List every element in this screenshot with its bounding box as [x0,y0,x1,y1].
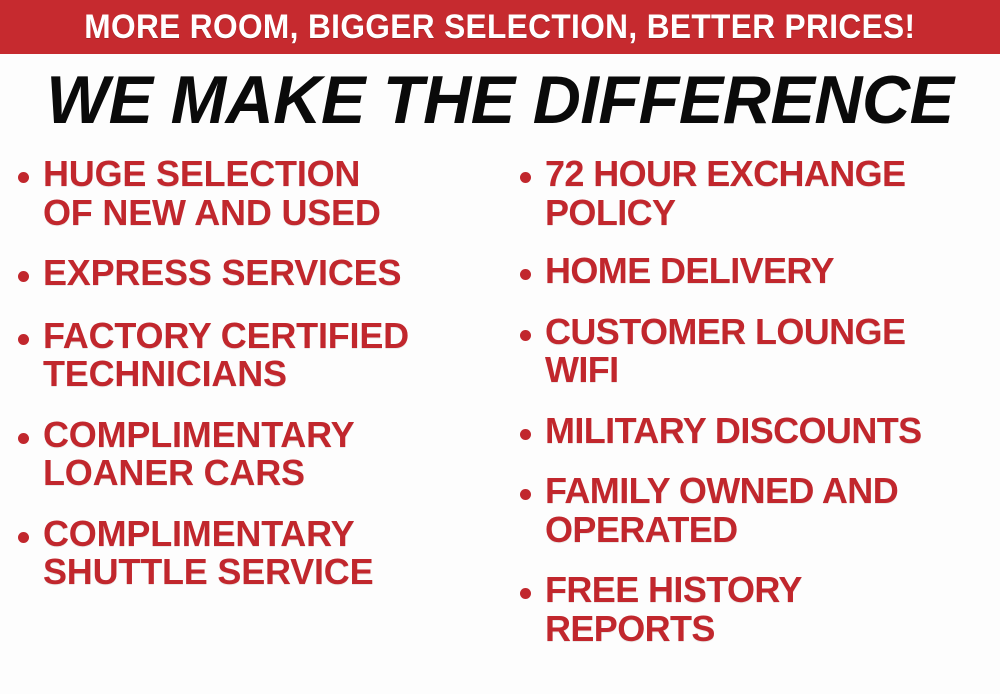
list-item: FAMILY OWNED AND OPERATED [520,472,1000,549]
bullet-dot-icon [520,330,531,341]
list-item-label: FAMILY OWNED AND OPERATED [545,472,898,549]
bullet-dot-icon [18,172,29,183]
list-item: FACTORY CERTIFIED TECHNICIANS [18,317,510,394]
list-item-label: COMPLIMENTARY LOANER CARS [43,416,354,493]
list-item-label: FREE HISTORY REPORTS [545,571,802,648]
benefits-columns: HUGE SELECTION OF NEW AND USED EXPRESS S… [0,155,1000,694]
headline-text: WE MAKE THE DIFFERENCE [46,66,953,135]
bullet-dot-icon [520,588,531,599]
top-promo-text: MORE ROOM, BIGGER SELECTION, BETTER PRIC… [84,10,915,44]
list-item-label: COMPLIMENTARY SHUTTLE SERVICE [43,515,373,592]
bullet-dot-icon [520,489,531,500]
list-item: MILITARY DISCOUNTS [520,412,1000,451]
list-item: COMPLIMENTARY LOANER CARS [18,416,510,493]
bullet-dot-icon [520,172,531,183]
list-item: FREE HISTORY REPORTS [520,571,1000,648]
list-item-label: FACTORY CERTIFIED TECHNICIANS [43,317,409,394]
list-item-label: 72 HOUR EXCHANGE POLICY [545,155,905,232]
bullet-dot-icon [18,334,29,345]
list-item-label: MILITARY DISCOUNTS [545,412,922,451]
list-item: 72 HOUR EXCHANGE POLICY [520,155,1000,232]
list-item: CUSTOMER LOUNGE WIFI [520,313,1000,390]
list-item-label: CUSTOMER LOUNGE WIFI [545,313,905,390]
bullet-dot-icon [520,429,531,440]
list-item: HUGE SELECTION OF NEW AND USED [18,155,510,232]
list-item: HOME DELIVERY [520,252,1000,291]
dealership-benefits-banner: MORE ROOM, BIGGER SELECTION, BETTER PRIC… [0,0,1000,694]
list-item: EXPRESS SERVICES [18,254,510,293]
headline: WE MAKE THE DIFFERENCE [0,66,1000,135]
bullet-dot-icon [520,269,531,280]
top-promo-banner: MORE ROOM, BIGGER SELECTION, BETTER PRIC… [0,0,1000,54]
list-item: COMPLIMENTARY SHUTTLE SERVICE [18,515,510,592]
benefits-column-left: HUGE SELECTION OF NEW AND USED EXPRESS S… [18,155,510,612]
bullet-dot-icon [18,532,29,543]
list-item-label: HOME DELIVERY [545,252,834,291]
bullet-dot-icon [18,433,29,444]
bullet-dot-icon [18,271,29,282]
benefits-column-right: 72 HOUR EXCHANGE POLICY HOME DELIVERY CU… [520,155,1000,668]
list-item-label: HUGE SELECTION OF NEW AND USED [43,155,381,232]
list-item-label: EXPRESS SERVICES [43,254,401,293]
